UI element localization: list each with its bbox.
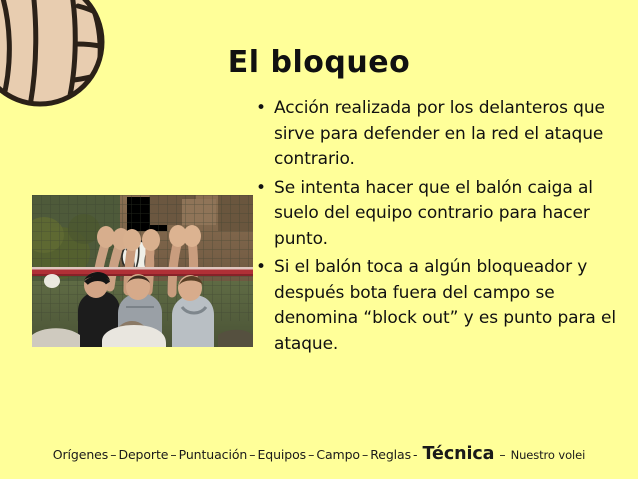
nav-item-deporte[interactable]: Deporte [118,447,168,462]
list-item: • Se intenta hacer que el balón caiga al… [252,176,616,253]
nav-item-origenes[interactable]: Orígenes [53,447,108,462]
nav-item-equipos[interactable]: Equipos [257,447,306,462]
nav-item-campo[interactable]: Campo [316,447,360,462]
bullet-text: Se intenta hacer que el balón caiga al s… [274,176,616,253]
nav-separator: – [108,447,118,462]
nav-separator: – [360,447,370,462]
bullet-marker-icon: • [252,255,274,281]
nav-separator: – [497,447,507,462]
bullet-marker-icon: • [252,96,274,122]
slide-title: El bloqueo [0,46,638,79]
nav-item-puntuacion[interactable]: Puntuación [179,447,248,462]
nav-separator: – [247,447,257,462]
bullet-marker-icon: • [252,176,274,202]
list-item: • Acción realizada por los delanteros qu… [252,96,616,173]
nav-item-tecnica[interactable]: Técnica [420,444,498,464]
nav-separator: – [168,447,178,462]
bullet-text: Acción realizada por los delanteros que … [274,96,616,173]
bullet-list: • Acción realizada por los delanteros qu… [252,96,616,360]
footer-nav: Orígenes–Deporte–Puntuación–Equipos–Camp… [0,444,638,464]
nav-separator: - [411,447,420,462]
nav-item-reglas[interactable]: Reglas [370,447,411,462]
slide-canvas: El bloqueo • Acción realizada por los de… [0,0,638,479]
list-item: • Si el balón toca a algún bloqueador y … [252,255,616,357]
bullet-text: Si el balón toca a algún bloqueador y de… [274,255,616,357]
volleyball-block-photo [32,195,253,347]
nav-separator: – [306,447,316,462]
nav-item-nuestro-volei[interactable]: Nuestro volei [508,448,586,462]
